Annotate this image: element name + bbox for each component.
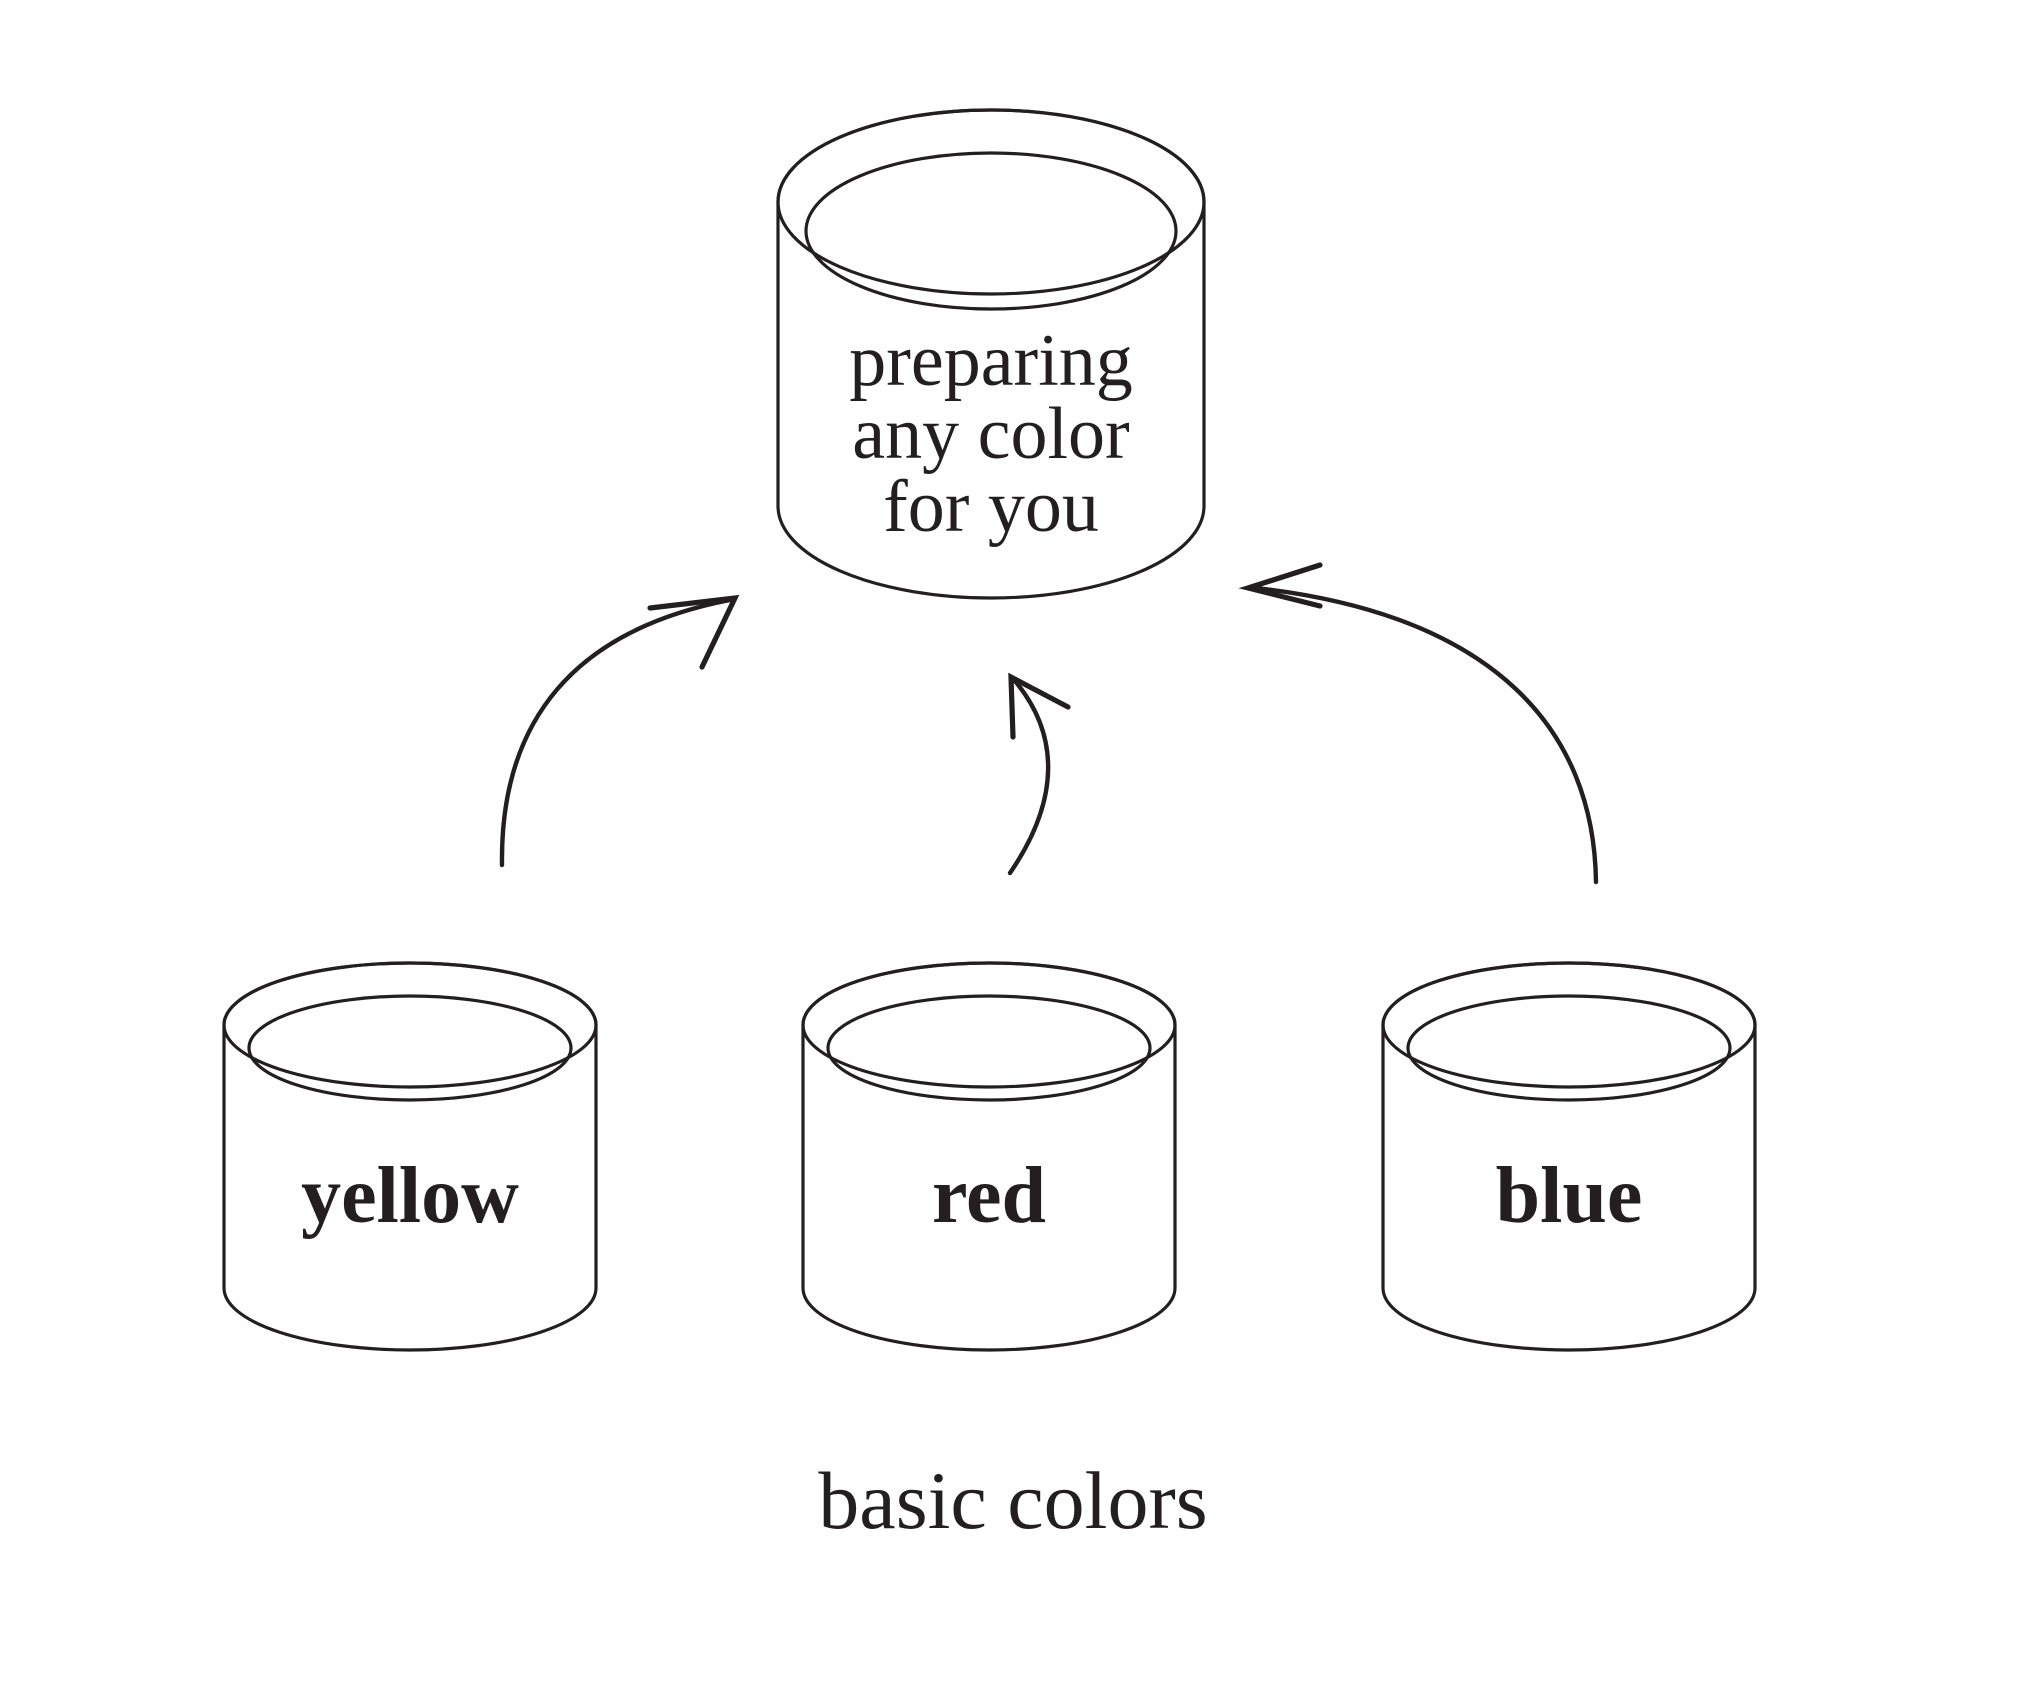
arrow-yellow-to-mixed [502,598,735,865]
diagram-caption: basic colors [818,1455,1207,1546]
arrow-blue-to-mixed [1248,565,1596,882]
mixed-color-vessel[interactable]: preparing any color for you [778,110,1204,598]
arrow-blue-shaft [1256,588,1596,882]
arrow-blue-head [1248,565,1320,606]
arrow-red-to-mixed [1010,677,1068,873]
basic-colors-diagram: preparing any color for you yellow [0,0,2032,1700]
arrow-red-shaft [1010,681,1048,873]
diagram-canvas: preparing any color for you yellow [0,0,2032,1700]
source-vessel-blue[interactable]: blue [1383,963,1755,1350]
source-vessel-red[interactable]: red [803,963,1175,1350]
yellow-vessel-label: yellow [301,1152,519,1240]
source-vessel-yellow[interactable]: yellow [224,963,596,1350]
blue-vessel-label: blue [1496,1152,1643,1240]
mixed-vessel-label-line-2: any color [852,393,1129,475]
red-vessel-label: red [932,1152,1046,1240]
mixed-vessel-label-line-1: preparing [849,320,1133,402]
mixed-vessel-label-line-3: for you [883,466,1099,548]
arrow-yellow-shaft [502,600,730,865]
